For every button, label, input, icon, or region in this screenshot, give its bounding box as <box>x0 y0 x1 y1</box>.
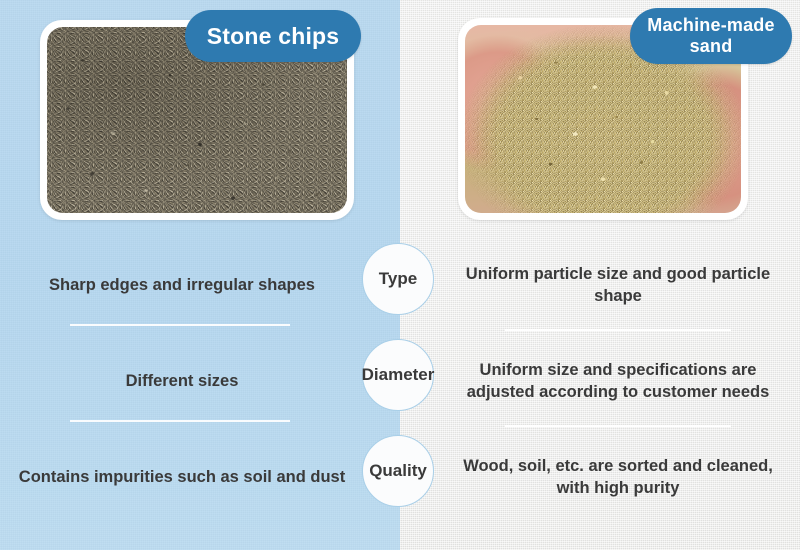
row-divider-left <box>70 420 290 422</box>
criterion-label: Quality <box>369 461 427 481</box>
row-left-text: Different sizes <box>4 334 360 430</box>
row-right-text: Uniform particle size and good particle … <box>440 238 796 334</box>
badge-line-1: Machine-made <box>647 15 774 35</box>
criterion-circle-diameter: Diameter <box>362 339 434 411</box>
row-divider-right <box>505 425 731 427</box>
row-left-text: Contains impurities such as soil and dus… <box>4 430 360 526</box>
row-right-text: Wood, soil, etc. are sorted and cleaned,… <box>440 430 796 526</box>
criterion-circle-type: Type <box>362 243 434 315</box>
row-left-text: Sharp edges and irregular shapes <box>4 238 360 334</box>
comparison-row: Contains impurities such as soil and dus… <box>0 430 800 526</box>
machine-made-sand-title-badge: Machine-made sand <box>630 8 792 64</box>
comparison-row: Sharp edges and irregular shapes Type Un… <box>0 238 800 334</box>
row-right-text: Uniform size and specifications are adju… <box>440 334 796 430</box>
comparison-row: Different sizes Diameter Uniform size an… <box>0 334 800 430</box>
row-divider-right <box>505 329 731 331</box>
criterion-label: Type <box>379 269 417 289</box>
row-divider-left <box>70 324 290 326</box>
comparison-rows: Sharp edges and irregular shapes Type Un… <box>0 238 800 526</box>
stone-chips-title-badge: Stone chips <box>185 10 361 62</box>
criterion-label: Diameter <box>362 365 435 385</box>
comparison-infographic: Stone chips Machine-made sand Sharp edge… <box>0 0 800 550</box>
criterion-circle-quality: Quality <box>362 435 434 507</box>
badge-line-2: sand <box>690 36 733 56</box>
